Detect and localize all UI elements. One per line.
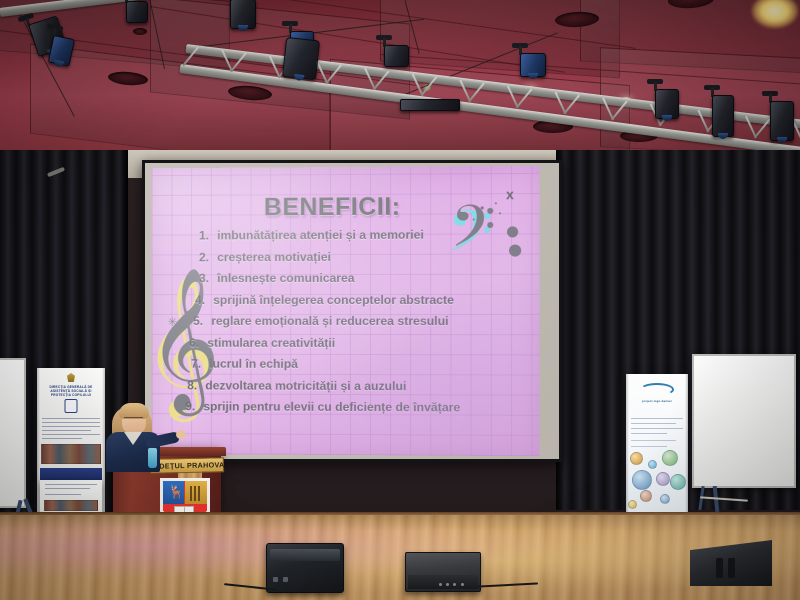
slide-heading: BENEFICII: (152, 192, 528, 223)
list-item-text: sprijină înțelegerea conceptelor abstrac… (213, 292, 454, 306)
list-item-number: 4. (195, 290, 210, 311)
amplifier-rack (405, 552, 481, 592)
banner-headline: project-logo-banner (630, 399, 685, 403)
list-item-text: sprijin pentru elevii cu deficiențe de î… (203, 399, 460, 414)
presenter (98, 400, 176, 470)
stage-floor (0, 512, 800, 600)
list-item: 2. creșterea motivației (199, 246, 533, 268)
list-item-number: 7. (191, 354, 206, 375)
list-item-text: creșterea motivației (217, 250, 331, 264)
water-bottle (148, 448, 157, 468)
decor-dot (473, 218, 475, 220)
list-item-number: 9. (185, 396, 200, 417)
banner-headline: DIRECȚIA GENERALĂ DE ASISTENȚĂ SOCIALĂ Ș… (41, 385, 101, 397)
list-item: 6. stimularea creativității (189, 332, 533, 354)
list-item: 3. înlesnește comunicarea (199, 268, 533, 290)
list-item-number: 6. (189, 332, 204, 353)
list-item-number: 8. (187, 375, 202, 396)
list-item: 9. sprijin pentru elevii cu deficiențe d… (185, 396, 533, 419)
presenter-glasses (124, 417, 143, 421)
decor-dot (507, 226, 518, 237)
list-item-number: 3. (199, 268, 214, 289)
list-item: 5. reglare emoțională și reducerea stres… (193, 311, 533, 333)
list-item-text: înlesnește comunicarea (217, 271, 354, 285)
flipchart-whiteboard-left (0, 358, 26, 508)
list-item-text: reglare emoțională și reducerea stresulu… (211, 314, 448, 328)
list-item: 4. sprijină înțelegerea conceptelor abst… (195, 289, 533, 311)
list-item-text: lucrul în echipă (209, 357, 298, 371)
list-item-text: dezvoltarea motricității și a auzului (205, 378, 406, 393)
road-case (266, 543, 344, 593)
list-item-text: stimularea creativității (207, 335, 335, 349)
project-rollup-banner: project-logo-banner (626, 374, 688, 520)
decor-dot (481, 206, 484, 209)
list-item-number: 5. (193, 311, 208, 332)
list-item-number: 2. (199, 247, 214, 268)
presentation-photo-scene: BENEFICII: 1. imbunătățirea atenției și … (0, 0, 800, 600)
list-item: 8. dezvoltarea motricității și a auzului (187, 375, 533, 398)
presentation-slide: BENEFICII: 1. imbunătățirea atenției și … (152, 166, 540, 456)
list-item: 1. imbunătățirea atenției și a memoriei (199, 224, 533, 247)
decor-dot (509, 245, 521, 257)
ceiling (0, 0, 800, 160)
list-item-number: 1. (199, 225, 214, 246)
list-item: 7. lucrul în echipă (191, 354, 533, 376)
x-mark-icon: x (506, 186, 514, 202)
list-item-text: imbunătățirea atenției și a memoriei (217, 228, 424, 243)
benefits-list: 1. imbunătățirea atenției și a memoriei … (185, 224, 533, 419)
decor-dot (495, 202, 497, 204)
flipchart-whiteboard (692, 354, 796, 488)
star-icon: ✳ (167, 315, 177, 329)
decor-dot (499, 212, 501, 214)
